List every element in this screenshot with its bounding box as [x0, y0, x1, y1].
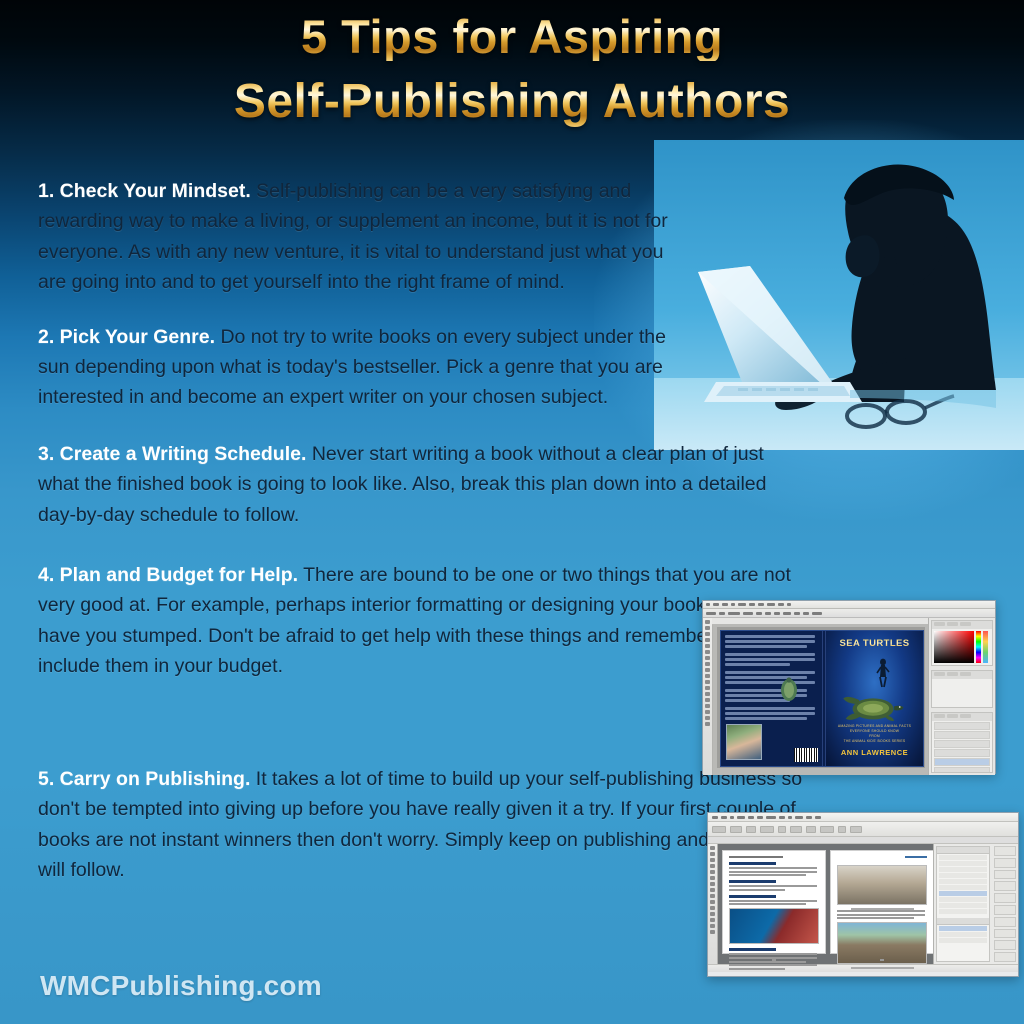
- page-heading: [729, 895, 776, 898]
- jellyfish-photo: [729, 908, 819, 944]
- turtle-on-sand-photo: [837, 865, 927, 905]
- cover-app-panels: [928, 618, 995, 775]
- cover-subtitle-line-1: Amazing Pictures and Animal Facts: [830, 724, 919, 729]
- layout-app-toolbar[interactable]: [708, 844, 718, 964]
- tip-item-2: 2. Pick Your Genre. Do not try to write …: [38, 322, 678, 413]
- sea-turtles-book-cover: SEA TURTLES: [720, 630, 924, 767]
- sea-turtle-illustration: [842, 688, 904, 729]
- tip-1-lead: 1. Check Your Mindset.: [38, 180, 251, 202]
- tip-item-4: 4. Plan and Budget for Help. There are b…: [38, 560, 798, 682]
- layer-row[interactable]: [934, 731, 990, 739]
- tip-2-lead: 2. Pick Your Genre.: [38, 326, 215, 348]
- panel-row[interactable]: [939, 903, 987, 908]
- page-spread[interactable]: [722, 850, 934, 954]
- cover-front-panel: SEA TURTLES: [826, 631, 923, 766]
- cover-title: SEA TURTLES: [826, 638, 923, 649]
- book-interior-layout-screenshot: [707, 812, 1019, 977]
- title-line-1: 5 Tips for Aspiring: [0, 12, 1024, 61]
- pages-panel[interactable]: [936, 846, 990, 962]
- panel-row-selected[interactable]: [939, 926, 987, 931]
- color-picker-panel[interactable]: [931, 620, 993, 666]
- tip-5-lead: 5. Carry on Publishing.: [38, 768, 250, 790]
- panel-row[interactable]: [939, 867, 987, 872]
- barcode: [794, 748, 818, 762]
- panel-row[interactable]: [939, 855, 987, 860]
- author-portrait: [726, 724, 762, 760]
- page-heading: [729, 862, 776, 865]
- cover-app-workspace: SEA TURTLES: [703, 618, 995, 775]
- scuba-diver-icon: [876, 658, 890, 688]
- tip-item-5: 5. Carry on Publishing. It takes a lot o…: [38, 764, 808, 886]
- layout-app-menubar: [708, 813, 1018, 822]
- panel-row-selected[interactable]: [939, 891, 987, 896]
- cover-app-menubar: [703, 601, 995, 609]
- panel-row[interactable]: [939, 861, 987, 866]
- panel-dock[interactable]: [994, 846, 1016, 962]
- right-page[interactable]: [830, 850, 934, 954]
- tips-list: 1. Check Your Mindset. Self-publishing c…: [38, 176, 808, 909]
- layer-row[interactable]: [934, 722, 990, 730]
- panel-row[interactable]: [939, 885, 987, 890]
- infographic-poster: 5 Tips for Aspiring Self-Publishing Auth…: [0, 0, 1024, 1024]
- layer-row-selected[interactable]: [934, 758, 990, 766]
- left-page[interactable]: [722, 850, 826, 954]
- tip-item-1: 1. Check Your Mindset. Self-publishing c…: [38, 176, 688, 298]
- cover-app-options-bar: [703, 609, 995, 618]
- panel-row[interactable]: [939, 879, 987, 884]
- layout-app-document-tab[interactable]: [708, 837, 1018, 844]
- cover-author: ANN LAWRENCE: [826, 748, 923, 757]
- page-link: [905, 856, 927, 858]
- panel-row[interactable]: [939, 897, 987, 902]
- page-heading: [729, 880, 776, 883]
- turtle-beach-photo: [837, 922, 927, 964]
- cover-back-panel: [721, 631, 822, 766]
- cover-app-toolbar[interactable]: [703, 618, 713, 775]
- cover-subtitle: Amazing Pictures and Animal Facts Everyo…: [830, 724, 919, 744]
- layer-row[interactable]: [934, 749, 990, 757]
- tip-item-3: 3. Create a Writing Schedule. Never star…: [38, 439, 778, 530]
- layout-app-panels: [933, 844, 1018, 964]
- cover-subtitle-line-4: The Animal Kids' Books Series: [830, 739, 919, 744]
- book-cover-design-screenshot: SEA TURTLES: [702, 600, 996, 774]
- title-line-2: Self-Publishing Authors: [0, 77, 1024, 127]
- layer-row[interactable]: [934, 740, 990, 748]
- history-panel[interactable]: [931, 670, 993, 708]
- layout-app-workspace: [708, 844, 1018, 964]
- site-footer: WMCPublishing.com: [40, 970, 322, 1002]
- back-cover-turtle-icon: [778, 677, 800, 703]
- color-field[interactable]: [934, 631, 974, 663]
- hue-slider[interactable]: [976, 631, 981, 663]
- layout-app-control-bar[interactable]: [708, 822, 1018, 837]
- panel-row[interactable]: [939, 932, 987, 937]
- cover-app-ruler: [712, 618, 929, 625]
- panel-row[interactable]: [939, 938, 987, 943]
- tip-4-lead: 4. Plan and Budget for Help.: [38, 564, 298, 586]
- layer-row[interactable]: [934, 767, 990, 773]
- panel-row[interactable]: [939, 909, 987, 914]
- layers-panel[interactable]: [931, 712, 993, 773]
- page-title: 5 Tips for Aspiring Self-Publishing Auth…: [0, 12, 1024, 128]
- tip-3-lead: 3. Create a Writing Schedule.: [38, 443, 306, 465]
- panel-row[interactable]: [939, 873, 987, 878]
- color-swatches[interactable]: [983, 631, 988, 663]
- cover-app-canvas[interactable]: SEA TURTLES: [717, 627, 925, 768]
